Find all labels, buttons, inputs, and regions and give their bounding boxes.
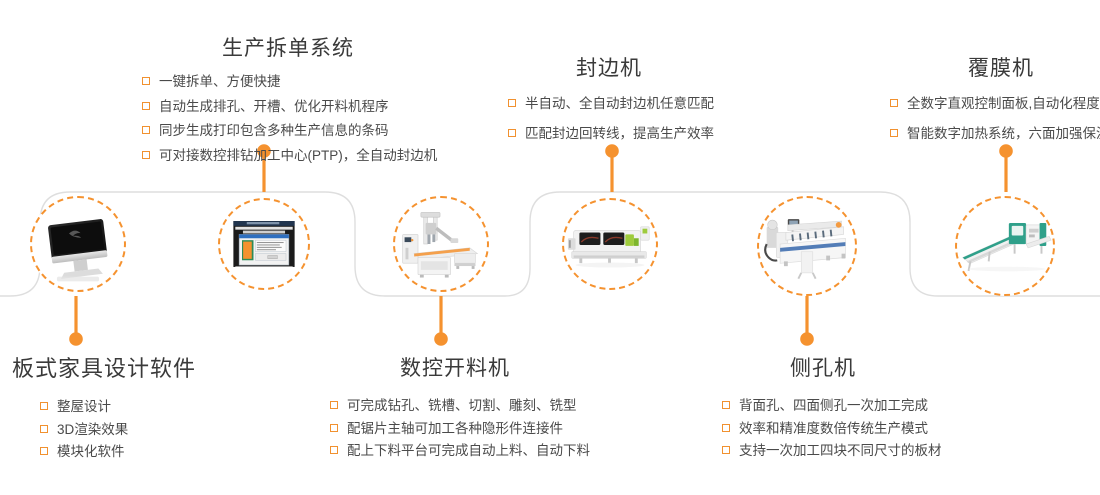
list-item-label: 匹配封边回转线，提高生产效率 — [525, 126, 714, 141]
list-item: 自动生成排孔、开槽、优化开料机程序 — [142, 100, 437, 114]
block-panel-furniture-design-software: 板式家具设计软件 整屋设计 3D渲染效果 模块化软件 — [12, 358, 196, 468]
infographic-stage: 生产拆单系统 一键拆单、方便快捷 自动生成排孔、开槽、优化开料机程序 同步生成打… — [0, 0, 1100, 495]
list-item: 匹配封边回转线，提高生产效率 — [508, 127, 714, 141]
block-feature-list: 全数字直观控制面板,自动化程度高 智能数字加热系统，六面加强保温 — [890, 97, 1100, 140]
block-feature-list: 背面孔、四面侧孔一次加工完成 效率和精准度数倍传统生产模式 支持一次加工四块不同… — [722, 399, 942, 458]
block-side-hole-drilling-machine: 侧孔机 背面孔、四面侧孔一次加工完成 效率和精准度数倍传统生产模式 支持一次加工… — [722, 358, 942, 467]
laminating-machine-photo — [957, 198, 1053, 294]
checkbox-square-icon — [40, 425, 48, 433]
block-title: 数控开料机 — [400, 358, 590, 379]
list-item-label: 模块化软件 — [57, 444, 125, 459]
checkbox-square-icon — [890, 99, 898, 107]
checkbox-square-icon — [330, 446, 338, 454]
list-item-label: 背面孔、四面侧孔一次加工完成 — [739, 398, 928, 413]
checkbox-square-icon — [508, 129, 516, 137]
node-cnc-router[interactable] — [393, 196, 489, 292]
list-item: 配上下料平台可完成自动上料、自动下料 — [330, 444, 590, 458]
list-item: 配锯片主轴可加工各种隐形件连接件 — [330, 422, 590, 436]
checkbox-square-icon — [142, 126, 150, 134]
list-item-label: 支持一次加工四块不同尺寸的板材 — [739, 443, 942, 458]
node-laminator[interactable] — [955, 196, 1055, 296]
list-item-label: 同步生成打印包含多种生产信息的条码 — [159, 123, 389, 138]
list-item-label: 3D渲染效果 — [57, 422, 128, 437]
block-feature-list: 可完成钻孔、铣槽、切割、雕刻、铣型 配锯片主轴可加工各种隐形件连接件 配上下料平… — [330, 399, 590, 458]
imac-computer-photo — [32, 198, 124, 290]
checkbox-square-icon — [330, 424, 338, 432]
checkbox-square-icon — [508, 99, 516, 107]
node-edge-bander[interactable] — [562, 198, 658, 290]
checkbox-square-icon — [142, 151, 150, 159]
side-hole-drilling-machine-photo — [759, 198, 855, 294]
list-item: 整屋设计 — [40, 400, 196, 414]
cnc-router-machine-photo — [395, 198, 487, 290]
list-item: 模块化软件 — [40, 445, 196, 459]
block-title: 生产拆单系统 — [222, 38, 437, 59]
list-item-label: 一键拆单、方便快捷 — [159, 74, 281, 89]
list-item-label: 可对接数控排钻加工中心(PTP)，全自动封边机 — [159, 148, 437, 163]
checkbox-square-icon — [722, 446, 730, 454]
block-feature-list: 一键拆单、方便快捷 自动生成排孔、开槽、优化开料机程序 同步生成打印包含多种生产… — [142, 75, 437, 162]
list-item-label: 配上下料平台可完成自动上料、自动下料 — [347, 443, 590, 458]
list-item-label: 全数字直观控制面板,自动化程度高 — [907, 96, 1100, 111]
list-item-label: 效率和精准度数倍传统生产模式 — [739, 421, 928, 436]
block-edge-banding-machine: 封边机 半自动、全自动封边机任意匹配 匹配封边回转线，提高生产效率 — [508, 58, 714, 151]
checkbox-square-icon — [40, 447, 48, 455]
list-item-label: 配锯片主轴可加工各种隐形件连接件 — [347, 421, 563, 436]
block-feature-list: 半自动、全自动封边机任意匹配 匹配封边回转线，提高生产效率 — [508, 97, 714, 140]
list-item: 背面孔、四面侧孔一次加工完成 — [722, 399, 942, 413]
block-title: 覆膜机 — [968, 58, 1100, 79]
list-item: 同步生成打印包含多种生产信息的条码 — [142, 124, 437, 138]
block-title: 侧孔机 — [790, 358, 942, 379]
list-item-label: 整屋设计 — [57, 399, 111, 414]
list-item: 效率和精准度数倍传统生产模式 — [722, 422, 942, 436]
list-item: 一键拆单、方便快捷 — [142, 75, 437, 89]
block-feature-list: 整屋设计 3D渲染效果 模块化软件 — [40, 400, 196, 459]
block-cnc-cutting-machine: 数控开料机 可完成钻孔、铣槽、切割、雕刻、铣型 配锯片主轴可加工各种隐形件连接件… — [330, 358, 590, 467]
block-production-order-splitting-system: 生产拆单系统 一键拆单、方便快捷 自动生成排孔、开槽、优化开料机程序 同步生成打… — [142, 38, 437, 173]
list-item: 全数字直观控制面板,自动化程度高 — [890, 97, 1100, 111]
checkbox-square-icon — [40, 402, 48, 410]
node-imac[interactable] — [30, 196, 126, 292]
list-item-label: 智能数字加热系统，六面加强保温 — [907, 126, 1100, 141]
list-item-label: 自动生成排孔、开槽、优化开料机程序 — [159, 99, 389, 114]
checkbox-square-icon — [890, 129, 898, 137]
list-item: 半自动、全自动封边机任意匹配 — [508, 97, 714, 111]
list-item: 可对接数控排钻加工中心(PTP)，全自动封边机 — [142, 149, 437, 163]
software-screenshot-photo — [220, 200, 308, 288]
list-item: 支持一次加工四块不同尺寸的板材 — [722, 444, 942, 458]
list-item: 3D渲染效果 — [40, 423, 196, 437]
edge-banding-machine-photo — [564, 200, 656, 288]
list-item-label: 半自动、全自动封边机任意匹配 — [525, 96, 714, 111]
checkbox-square-icon — [142, 102, 150, 110]
list-item-label: 可完成钻孔、铣槽、切割、雕刻、铣型 — [347, 398, 577, 413]
list-item: 可完成钻孔、铣槽、切割、雕刻、铣型 — [330, 399, 590, 413]
node-software-screen[interactable] — [218, 198, 310, 290]
checkbox-square-icon — [330, 401, 338, 409]
checkbox-square-icon — [722, 401, 730, 409]
block-title: 板式家具设计软件 — [12, 358, 196, 380]
block-laminating-machine: 覆膜机 全数字直观控制面板,自动化程度高 智能数字加热系统，六面加强保温 — [890, 58, 1100, 151]
checkbox-square-icon — [722, 424, 730, 432]
list-item: 智能数字加热系统，六面加强保温 — [890, 127, 1100, 141]
node-side-driller[interactable] — [757, 196, 857, 296]
checkbox-square-icon — [142, 77, 150, 85]
block-title: 封边机 — [576, 58, 714, 79]
